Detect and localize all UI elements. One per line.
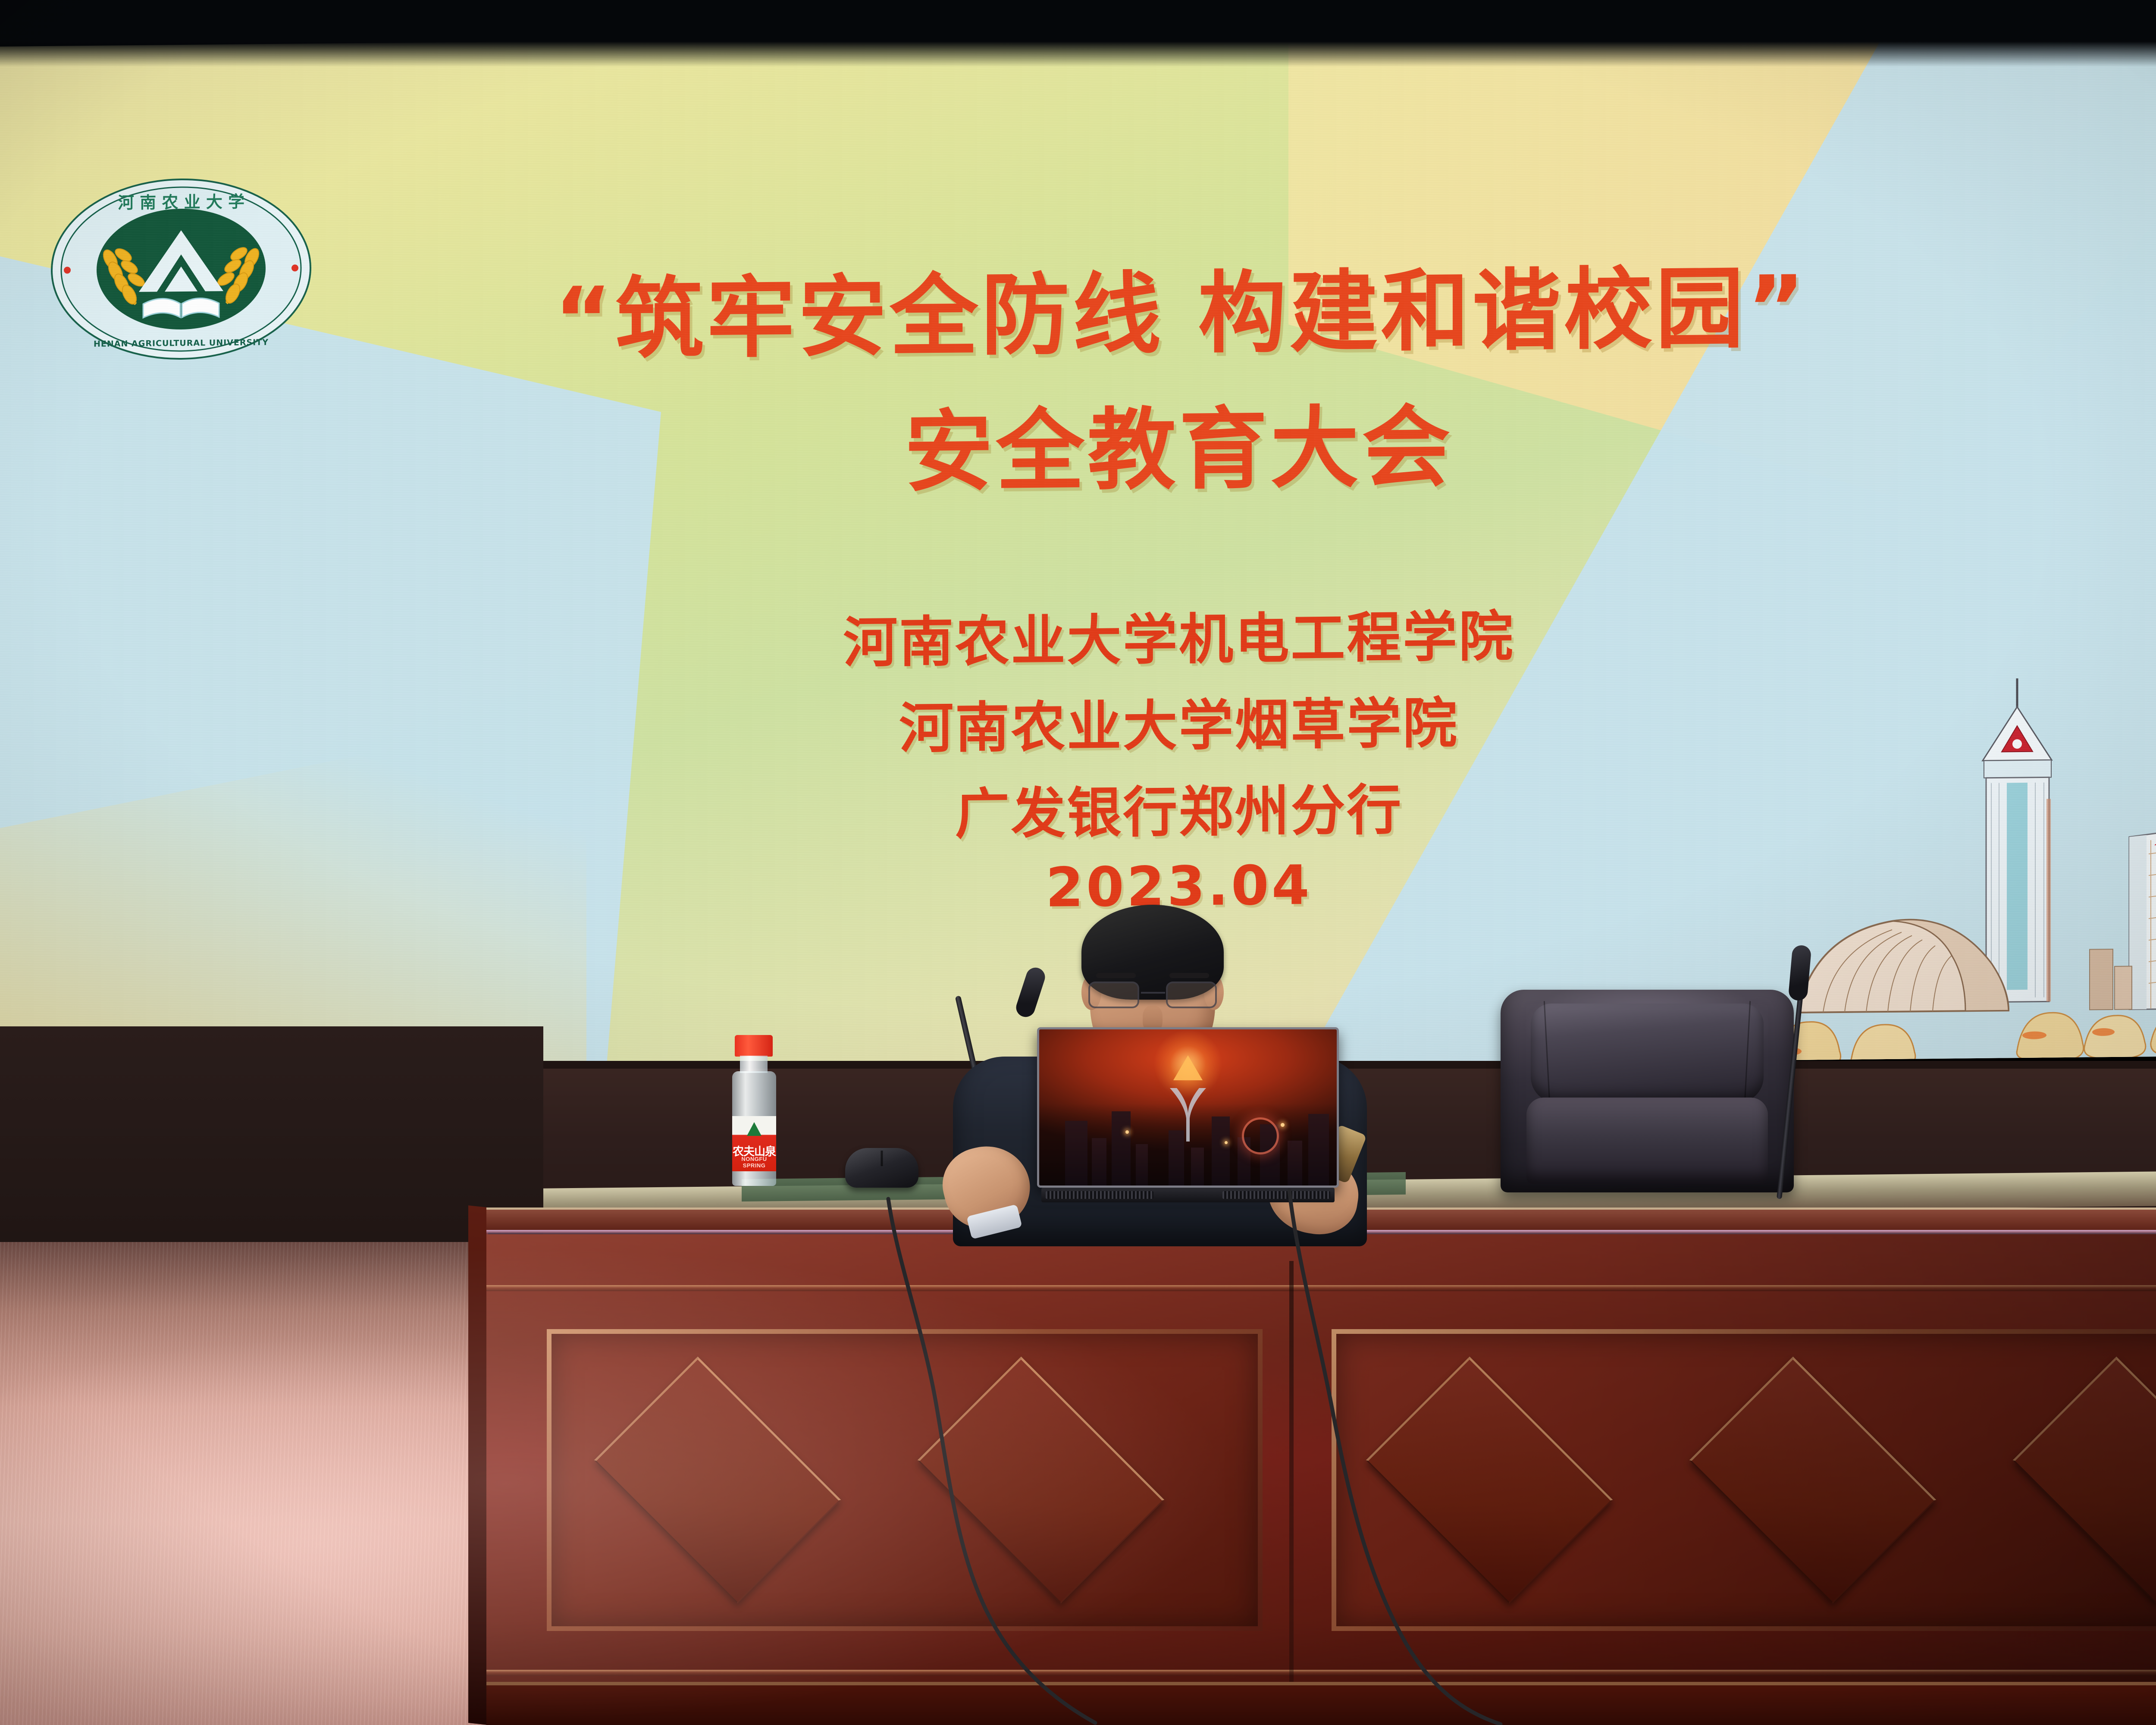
stage-backdrop-left-wing <box>0 1026 543 1268</box>
podium-diamond-relief <box>1689 1357 1937 1604</box>
laptop-art-tower <box>1112 1111 1131 1186</box>
laptop-art-tower <box>1191 1148 1204 1186</box>
legion-y-logo-icon <box>1167 1085 1209 1144</box>
laptop-art-tower <box>1308 1114 1329 1186</box>
laptop-vent-left <box>1046 1191 1153 1199</box>
bottle-cap <box>735 1035 773 1057</box>
conference-photo-scene: 河 南 农 业 大 学 HENAN AGRICULTURAL UNIVERSIT… <box>0 0 2156 1725</box>
laptop-art-tower <box>1065 1121 1087 1186</box>
presenter-eyebrow-left <box>1096 973 1136 978</box>
chair-lumbar-cushion <box>1526 1098 1768 1184</box>
screen-top-mask <box>0 0 2156 67</box>
computer-mouse[interactable] <box>845 1148 918 1188</box>
bottle-tree-icon <box>747 1122 761 1136</box>
laptop-art-light <box>1125 1130 1129 1134</box>
office-tower-icon <box>2129 819 2156 1010</box>
bottle-brand-en: NONGFU SPRING <box>732 1156 776 1169</box>
bottle-label: 农夫山泉 NONGFU SPRING <box>732 1116 776 1171</box>
podium-diamond-relief <box>594 1357 841 1604</box>
presenter-eyebrow-right <box>1169 973 1209 978</box>
chair-headrest-pad <box>1531 1004 1764 1103</box>
bottle-neck <box>740 1056 768 1073</box>
svg-text:河 南 农 业 大 学: 河 南 农 业 大 学 <box>118 192 244 213</box>
laptop-art-tower <box>1288 1141 1302 1186</box>
podium-left-end <box>468 1205 488 1725</box>
laptop-art-light <box>1281 1123 1285 1127</box>
legion-triangle-icon <box>1173 1055 1203 1080</box>
eyeglasses-lens-left <box>1088 982 1139 1008</box>
hanging-cable-right <box>1276 1190 1535 1725</box>
laptop-art-light <box>1225 1141 1228 1144</box>
lenovo-legion-laptop[interactable] <box>1037 1027 1339 1200</box>
bottle-body: 农夫山泉 NONGFU SPRING <box>732 1071 776 1186</box>
podium-diamond-relief <box>2013 1357 2156 1604</box>
eyeglasses-lens-right <box>1166 982 1217 1008</box>
laptop-art-ring <box>1242 1117 1279 1154</box>
nongfu-spring-water-bottle[interactable]: 农夫山泉 NONGFU SPRING <box>729 1035 780 1186</box>
eyeglasses-bridge <box>1141 992 1165 994</box>
zhongyuan-tower-icon <box>1983 678 2052 1002</box>
mic-right-stem <box>1777 984 1804 1199</box>
gooseneck-microphone-right[interactable] <box>1738 949 1841 1199</box>
laptop-art-tower <box>1092 1138 1106 1186</box>
laptop-art-tower <box>1136 1144 1148 1186</box>
mic-right-capsule <box>1788 944 1812 1001</box>
hanging-cable-left <box>871 1199 1173 1725</box>
laptop-art-tower <box>1212 1117 1230 1186</box>
laptop-lid <box>1037 1027 1339 1188</box>
